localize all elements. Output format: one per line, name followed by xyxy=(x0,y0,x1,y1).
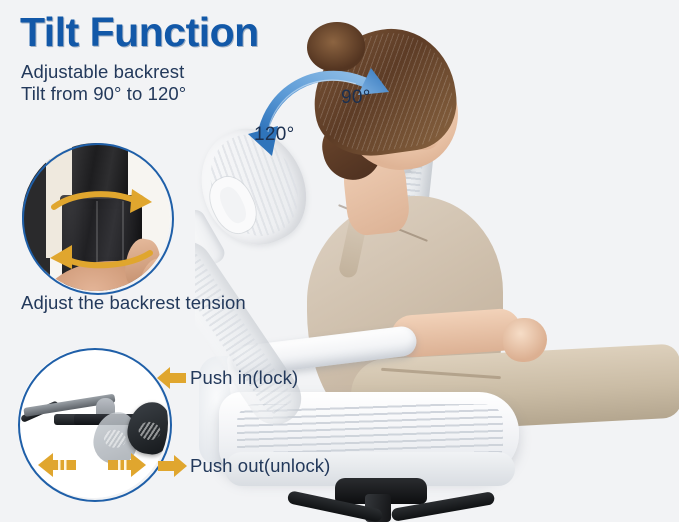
lock-lever-scene xyxy=(18,348,168,498)
paddle-emboss xyxy=(137,421,161,442)
angle-label-90: 90° xyxy=(341,87,371,109)
page-title: Tilt Function xyxy=(20,12,259,53)
ghost-backrest-mesh xyxy=(195,244,297,420)
push-in-arrow-icon xyxy=(157,366,187,390)
inner-arrow-right-icon xyxy=(106,452,146,483)
push-out-label: Push out(unlock) xyxy=(190,455,330,477)
push-out-arrow-icon xyxy=(157,454,187,478)
tension-knob-photo xyxy=(22,143,170,291)
inner-arrow-left-icon xyxy=(38,452,78,483)
push-in-label: Push in(lock) xyxy=(190,367,298,389)
tension-knob-scene xyxy=(22,143,170,291)
tension-caption: Adjust the backrest tension xyxy=(21,292,246,314)
ghost-backrest xyxy=(195,231,311,434)
subtitle-line-1: Adjustable backrest xyxy=(21,60,184,84)
subtitle-line-2: Tilt from 90° to 120° xyxy=(21,82,186,106)
infographic-canvas: 90° 120° Tilt Function Adjustable backre… xyxy=(0,0,679,522)
rotate-arrow-right-icon xyxy=(48,185,158,224)
paddle-ghost-emboss xyxy=(103,428,127,449)
rotate-arrow-left-icon xyxy=(44,239,156,278)
angle-label-120: 120° xyxy=(254,124,295,146)
lock-lever-photo xyxy=(18,348,168,498)
